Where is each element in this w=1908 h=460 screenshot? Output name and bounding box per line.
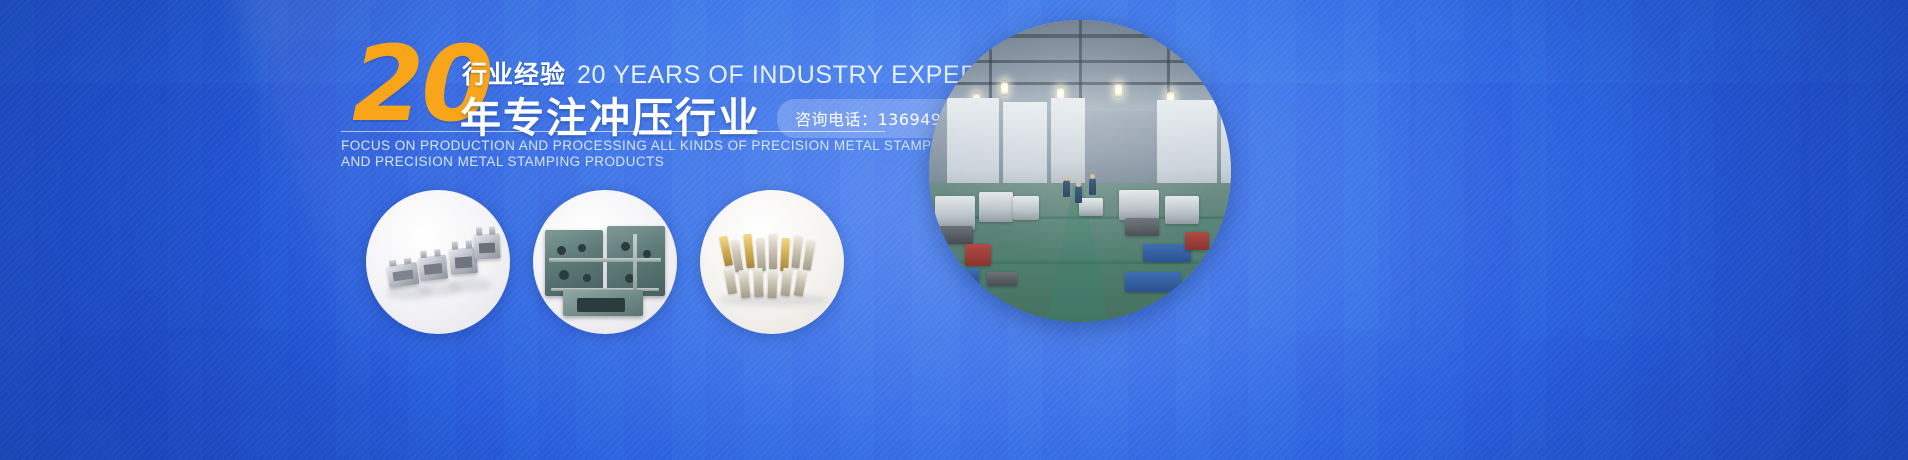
subtitle-line-1: FOCUS ON PRODUCTION AND PROCESSING ALL K… [341,138,1011,154]
factory-workshop-photo [929,20,1231,322]
main-headline-cn: 年专注冲压行业 [460,84,761,144]
product-circle-stamping-mold [533,190,677,334]
headline-divider [341,131,885,132]
promo-banner: 20 行业经验 20 YEARS OF INDUSTRY EXPERIENCE … [0,0,1908,460]
product-circle-connectors [366,190,510,334]
product-circle-metal-pins [700,190,844,334]
subtitle-block: FOCUS ON PRODUCTION AND PROCESSING ALL K… [341,138,1011,169]
subtitle-line-2: AND PRECISION METAL STAMPING PRODUCTS [341,154,1011,170]
